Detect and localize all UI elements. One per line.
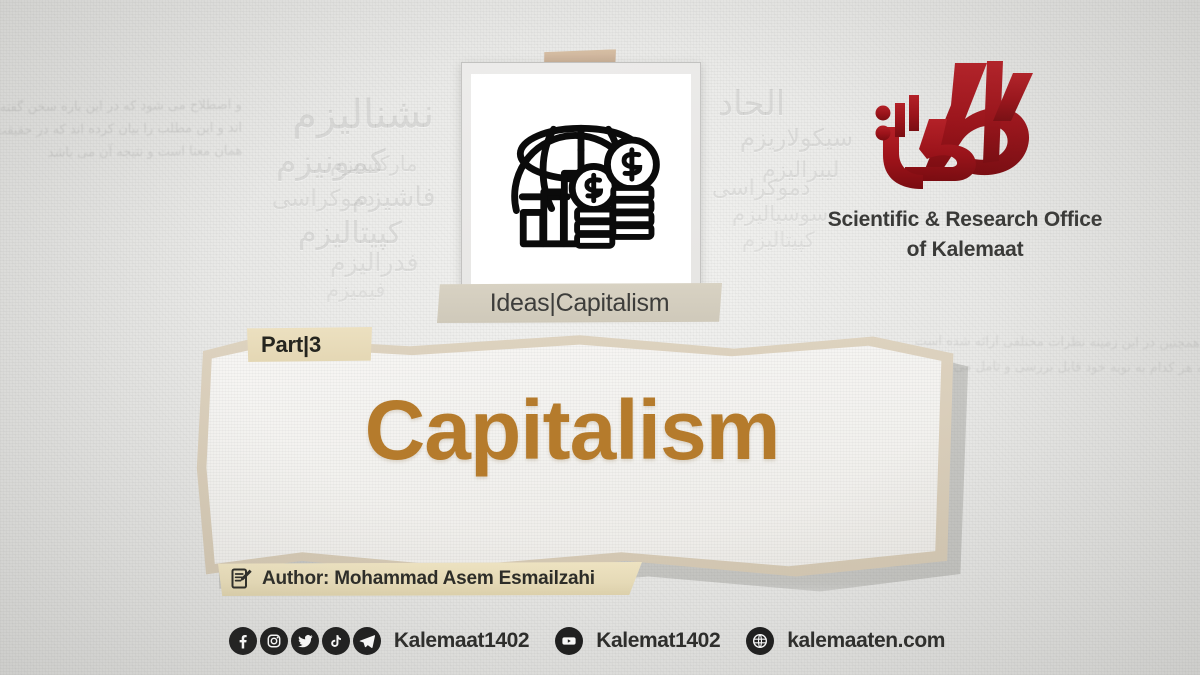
youtube-icon[interactable] [555,627,583,655]
illustration-frame [461,62,701,312]
series-caption-label: Ideas|Capitalism [490,289,670,318]
wordcloud-term: نشنالیزم [292,91,435,139]
instagram-icon[interactable] [260,627,288,655]
wordcloud-term: فاشیزم [352,182,436,213]
title-banner: Capitalism [192,340,952,572]
illustration-image [471,74,691,302]
background-ghost-text-left: و اصطلاح می شود که در این باره سخن گفته … [0,94,242,166]
page-title: Capitalism [365,382,780,479]
wordcloud-term: دموکراسی [272,186,375,212]
social-handle-youtube: Kalemat1402 [596,629,720,653]
brand-line-1: Scientific & Research Office [795,208,1135,232]
author-label: Author: Mohammad Asem Esmailzahi [262,568,595,590]
wordcloud-term: کپیتالیزم [298,216,402,251]
social-handle-main: Kalemaat1402 [394,629,529,653]
brand-line-2: of Kalemaat [795,238,1135,262]
brand-block: Scientific & Research Office of Kalemaat [795,58,1135,262]
telegram-icon[interactable] [353,627,381,655]
twitter-icon[interactable] [291,627,319,655]
social-bar: Kalemaat1402 Kalemat1402 kalemaaten.com [0,618,1200,664]
globe-icon[interactable] [746,627,774,655]
social-group-youtube: Kalemat1402 [555,627,746,655]
globe-bar-chart-coins-icon [483,95,679,281]
social-website: kalemaaten.com [787,629,945,653]
tiktok-icon[interactable] [322,627,350,655]
part-badge-label: Part|3 [261,332,321,358]
author-ribbon: Author: Mohammad Asem Esmailzahi [218,562,642,596]
series-caption: Ideas|Capitalism [437,283,722,323]
facebook-icon[interactable] [229,627,257,655]
part-badge: Part|3 [247,327,372,362]
social-group-main: Kalemaat1402 [229,627,555,655]
wordcloud-term: مارکسیزم [330,152,417,176]
document-pencil-icon [230,567,254,591]
wordcloud-term: الحاد [718,84,785,124]
social-group-website: kalemaaten.com [746,627,971,655]
wordcloud-term: کمونیزم [276,142,386,181]
wordcloud-term: فدرالیزم [330,248,419,277]
kalemaat-logo-mark [795,58,1135,206]
wordcloud-term: فیمیزم [326,278,385,302]
slide-canvas: و اصطلاح می شود که در این باره سخن گفته … [0,0,1200,675]
kalemaat-arabic-wordmark [847,57,1083,207]
